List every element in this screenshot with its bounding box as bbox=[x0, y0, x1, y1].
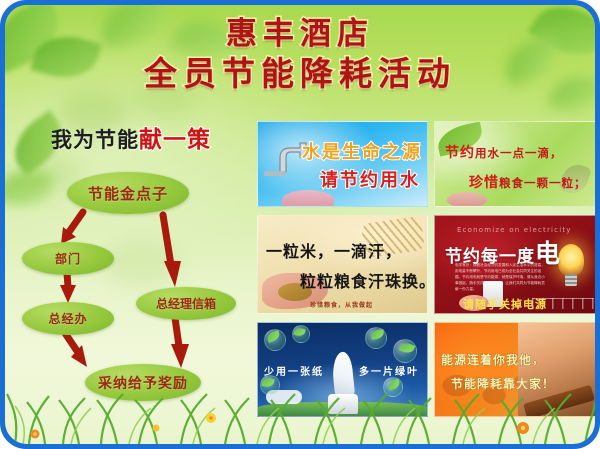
panel-water-line2: 请节约用水 bbox=[320, 166, 420, 192]
poster-header: 惠丰酒店 全员节能降耗活动 bbox=[5, 11, 595, 111]
panel-energy-together[interactable]: 能源连着你我他， 节能降耗靠大家！ bbox=[434, 322, 595, 417]
arrow-gm-to-award bbox=[59, 331, 93, 371]
arrow-idea-to-mail bbox=[155, 213, 189, 289]
panel-grain-line2: 珍惜粮食一颗一粒； bbox=[469, 172, 587, 192]
panel-grain-line1-em: 节约 bbox=[445, 145, 475, 161]
flow-node-dept-label: 部门 bbox=[55, 250, 81, 267]
panel-rice-footnote: 珍惜粮食，从我做起 bbox=[310, 300, 373, 309]
left-column: 我为节能献一策 bbox=[5, 109, 253, 439]
arrow-mail-to-award bbox=[167, 316, 197, 370]
poster-inner: 惠丰酒店 全员节能降耗活动 我为节能献一策 bbox=[5, 5, 595, 444]
poster-canvas: 惠丰酒店 全员节能降耗活动 我为节能献一策 bbox=[0, 0, 600, 449]
hand-graphic bbox=[447, 192, 487, 207]
panel-grain-line2-em: 珍惜 bbox=[469, 175, 499, 191]
flow-node-award[interactable]: 采纳给予奖励 bbox=[85, 364, 201, 401]
subtitle-highlight: 献一策 bbox=[139, 127, 211, 153]
panel-rice-line1: 一粒米，一滴汗， bbox=[266, 238, 402, 262]
hands-graphic bbox=[282, 190, 334, 207]
flow-node-mailbox-label: 总经理信箱 bbox=[156, 295, 216, 312]
tissue-graphic bbox=[330, 351, 355, 399]
poster-title-line1: 惠丰酒店 bbox=[5, 19, 595, 50]
flow-node-mailbox[interactable]: 总经理信箱 bbox=[136, 287, 236, 320]
panel-electricity-bottom-line: 请随手关掉电源 bbox=[463, 296, 547, 312]
flow-node-idea[interactable]: 节能金点子 bbox=[67, 172, 189, 214]
panel-rice-line2: 粒粒粮食汗珠换。 bbox=[300, 268, 428, 292]
panel-electricity-english: Economize on electricity bbox=[457, 226, 572, 234]
panel-paper-line-right: 多一片绿叶 bbox=[359, 363, 419, 378]
flow-node-gm-office[interactable]: 总经办 bbox=[22, 302, 114, 335]
panel-save-paper[interactable]: 少用一张纸 多一片绿叶 bbox=[257, 322, 428, 417]
panel-energy-line2: 节能降耗靠大家！ bbox=[451, 375, 555, 392]
panel-save-water-grain[interactable]: 节约用水一点一滴， 珍惜粮食一颗一粒； bbox=[434, 121, 595, 207]
bulb-base-graphic bbox=[565, 274, 577, 286]
flow-node-award-label: 采纳给予奖励 bbox=[98, 373, 188, 393]
poster-panel-grid: 水是生命之源 请节约用水 节约用水一点一滴， 珍惜粮食一颗一粒； 一粒米，一滴汗… bbox=[257, 121, 595, 421]
panel-grain-line1: 节约用水一点一滴， bbox=[445, 142, 563, 162]
panel-water-line1: 水是生命之源 bbox=[302, 138, 422, 164]
panel-paper-line-left: 少用一张纸 bbox=[264, 363, 324, 378]
flow-node-dept[interactable]: 部门 bbox=[22, 242, 114, 275]
panel-water-source[interactable]: 水是生命之源 请节约用水 bbox=[257, 121, 428, 207]
subtitle-plain: 我为节能 bbox=[51, 128, 139, 152]
panel-grain-line2-rest: 粮食一颗一粒； bbox=[499, 176, 587, 190]
flow-node-idea-label: 节能金点子 bbox=[88, 183, 168, 204]
panel-grain-line1-rest: 用水一点一滴， bbox=[475, 146, 563, 160]
flow-node-gm-office-label: 总经办 bbox=[48, 310, 87, 327]
tissue-box-graphic bbox=[328, 394, 358, 414]
arrow-dept-to-gm bbox=[57, 271, 81, 305]
light-bulb-icon bbox=[558, 244, 584, 276]
section-subtitle: 我为节能献一策 bbox=[51, 129, 211, 152]
poster-title-line2: 全员节能降耗活动 bbox=[5, 57, 595, 90]
panel-rice-sweat[interactable]: 一粒米，一滴汗， 粒粒粮食汗珠换。 珍惜粮食，从我做起 bbox=[257, 215, 428, 314]
panel-energy-line1: 能源连着你我他， bbox=[441, 351, 545, 368]
panel-save-electricity[interactable]: Economize on electricity 节约每一度电 电学常识：随着社… bbox=[434, 215, 595, 314]
